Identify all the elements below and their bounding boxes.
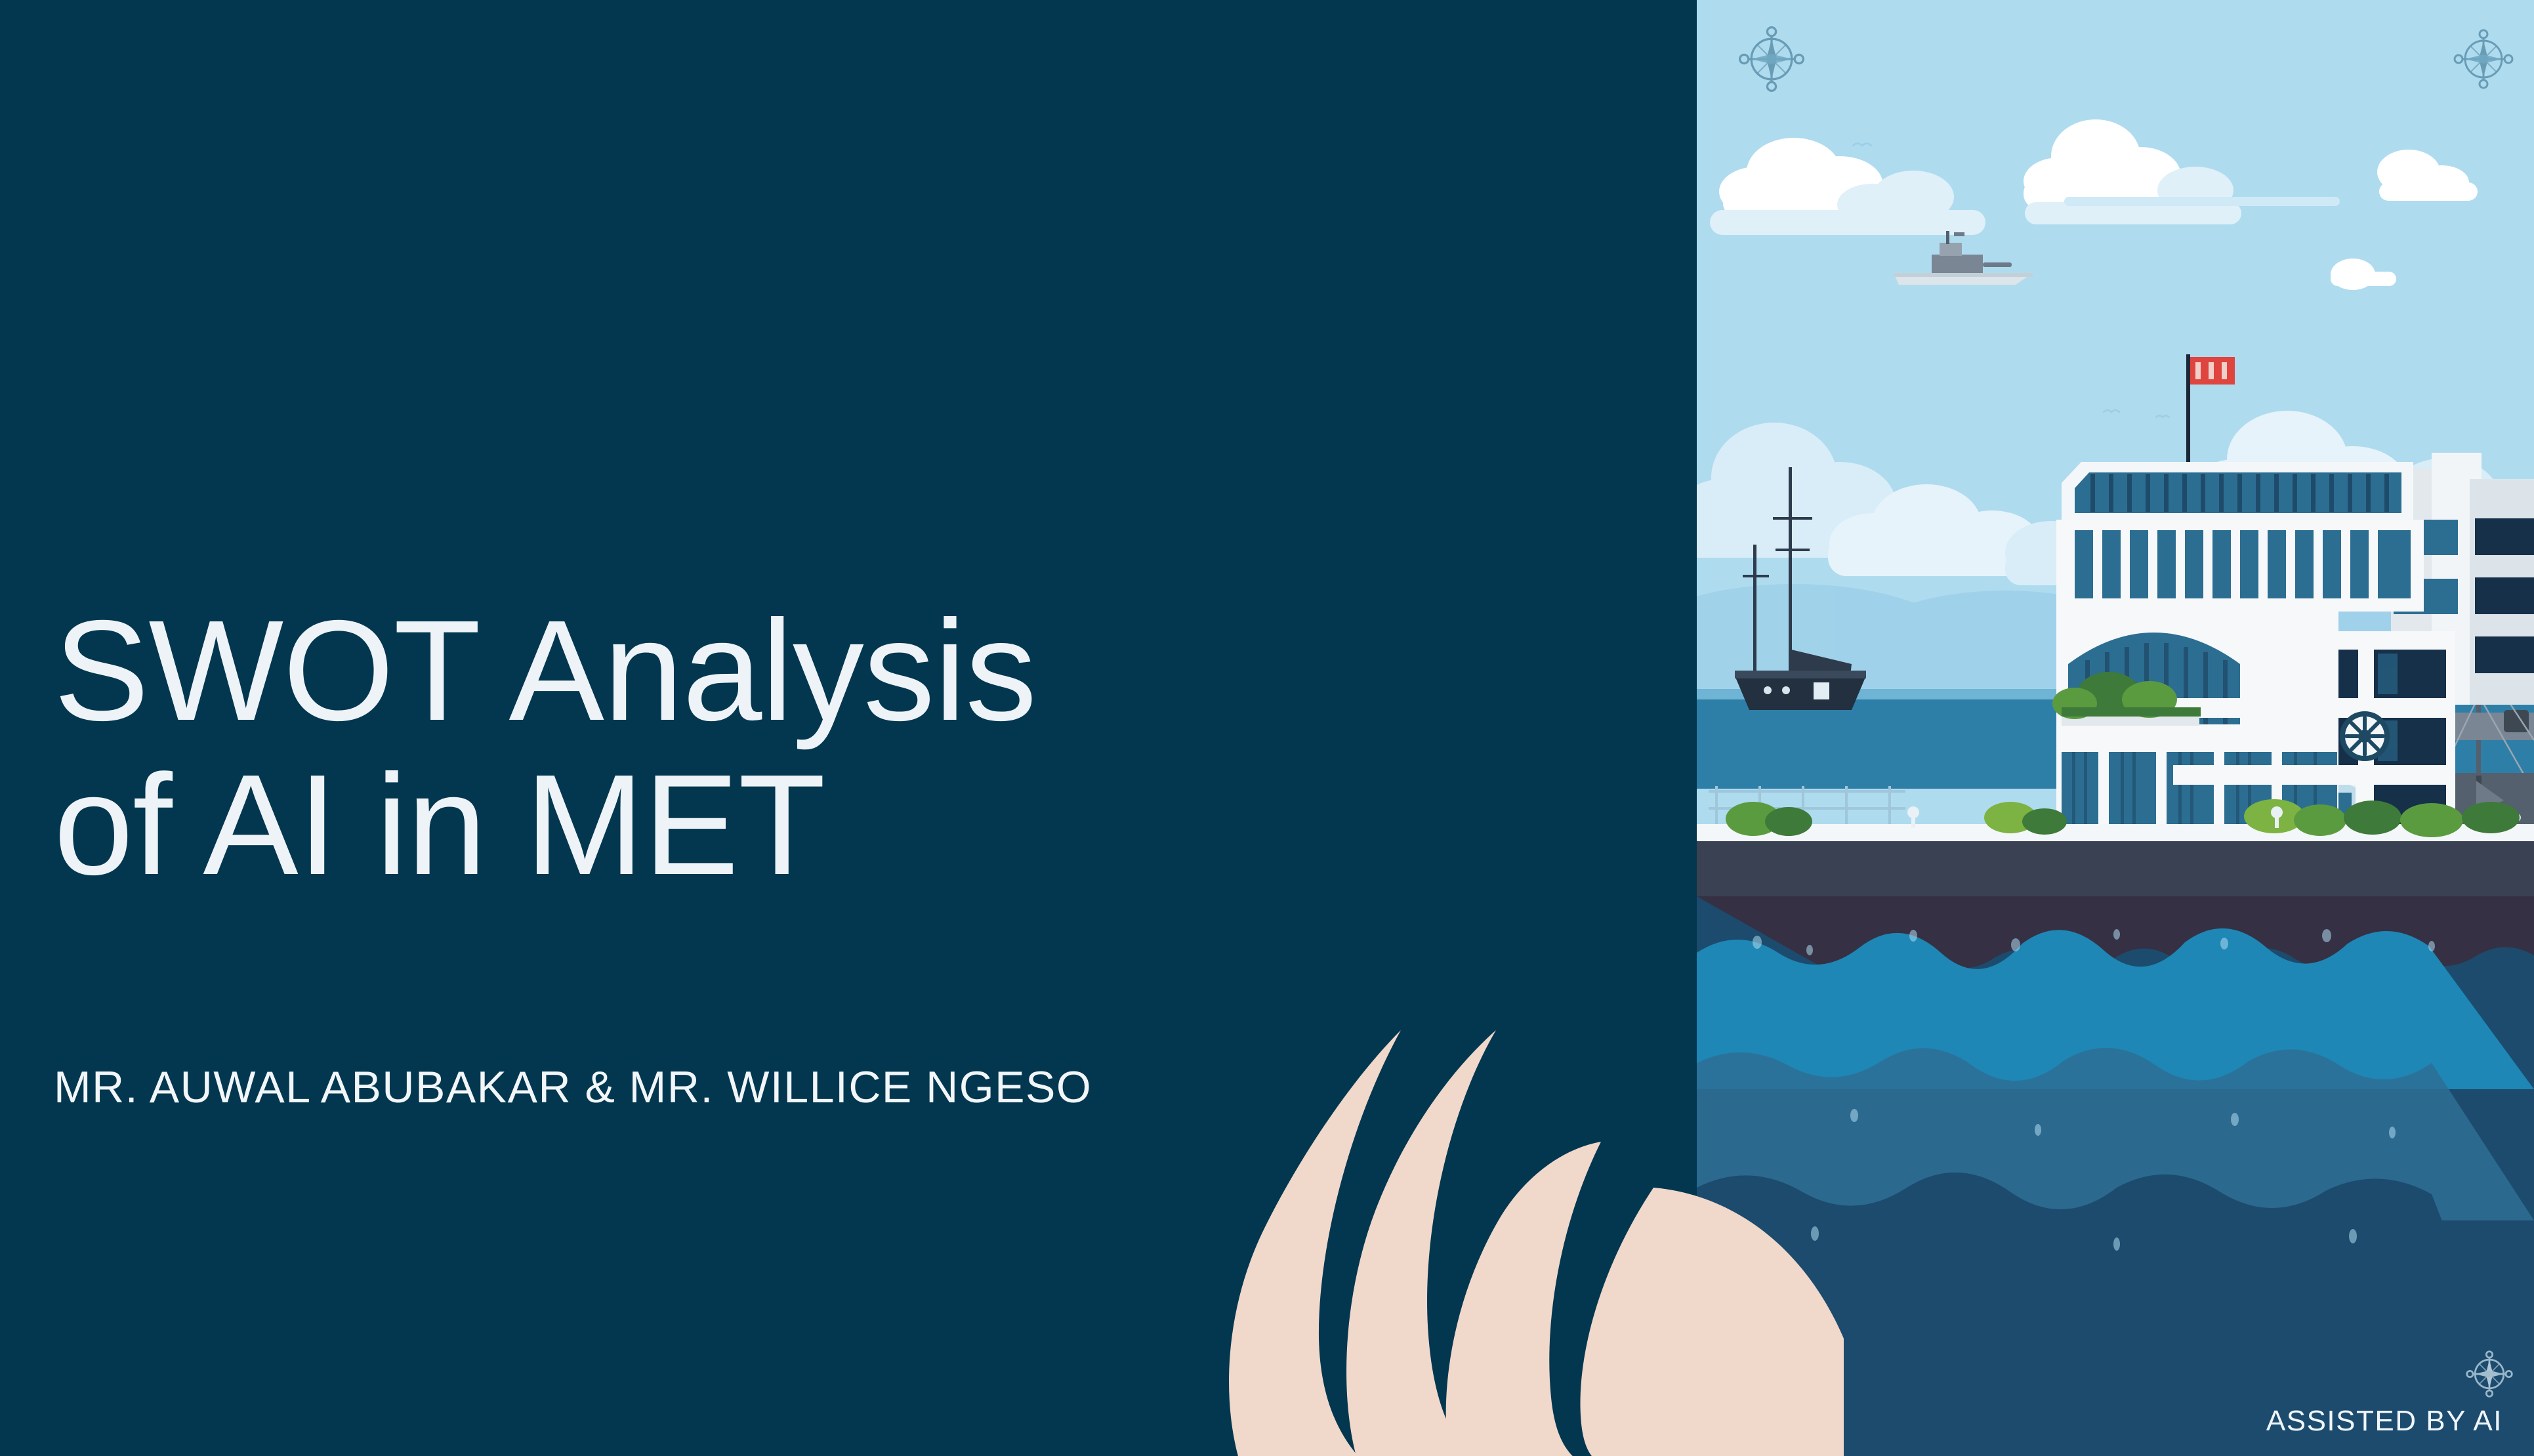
- compass-rose-icon: [1735, 23, 1808, 95]
- title-block: SWOT Analysis of AI in MET: [54, 594, 1563, 903]
- presentation-slide: SWOT Analysis of AI in MET MR. AUWAL ABU…: [0, 0, 2534, 1456]
- title-panel: SWOT Analysis of AI in MET MR. AUWAL ABU…: [0, 0, 1697, 1456]
- sea-foreground: [1697, 896, 2534, 1456]
- compass-rose-icon: [2451, 26, 2516, 92]
- harbour-scene-svg: [1697, 0, 2534, 1456]
- assisted-by-ai-label: ASSISTED BY AI: [2266, 1405, 2503, 1438]
- compass-rose-icon: [2464, 1348, 2515, 1400]
- page-title: SWOT Analysis of AI in MET: [54, 594, 1563, 903]
- presenter-names: MR. AUWAL ABUBAKAR & MR. WILLICE NGESO: [54, 1063, 1563, 1112]
- subtitle-block: MR. AUWAL ABUBAKAR & MR. WILLICE NGESO: [54, 1063, 1563, 1112]
- harbour-illustration: [1697, 0, 2534, 1456]
- cloud-wisp: [2064, 197, 2340, 206]
- ships-wheel-icon: [2342, 714, 2387, 759]
- quay-deck: [1697, 841, 2534, 896]
